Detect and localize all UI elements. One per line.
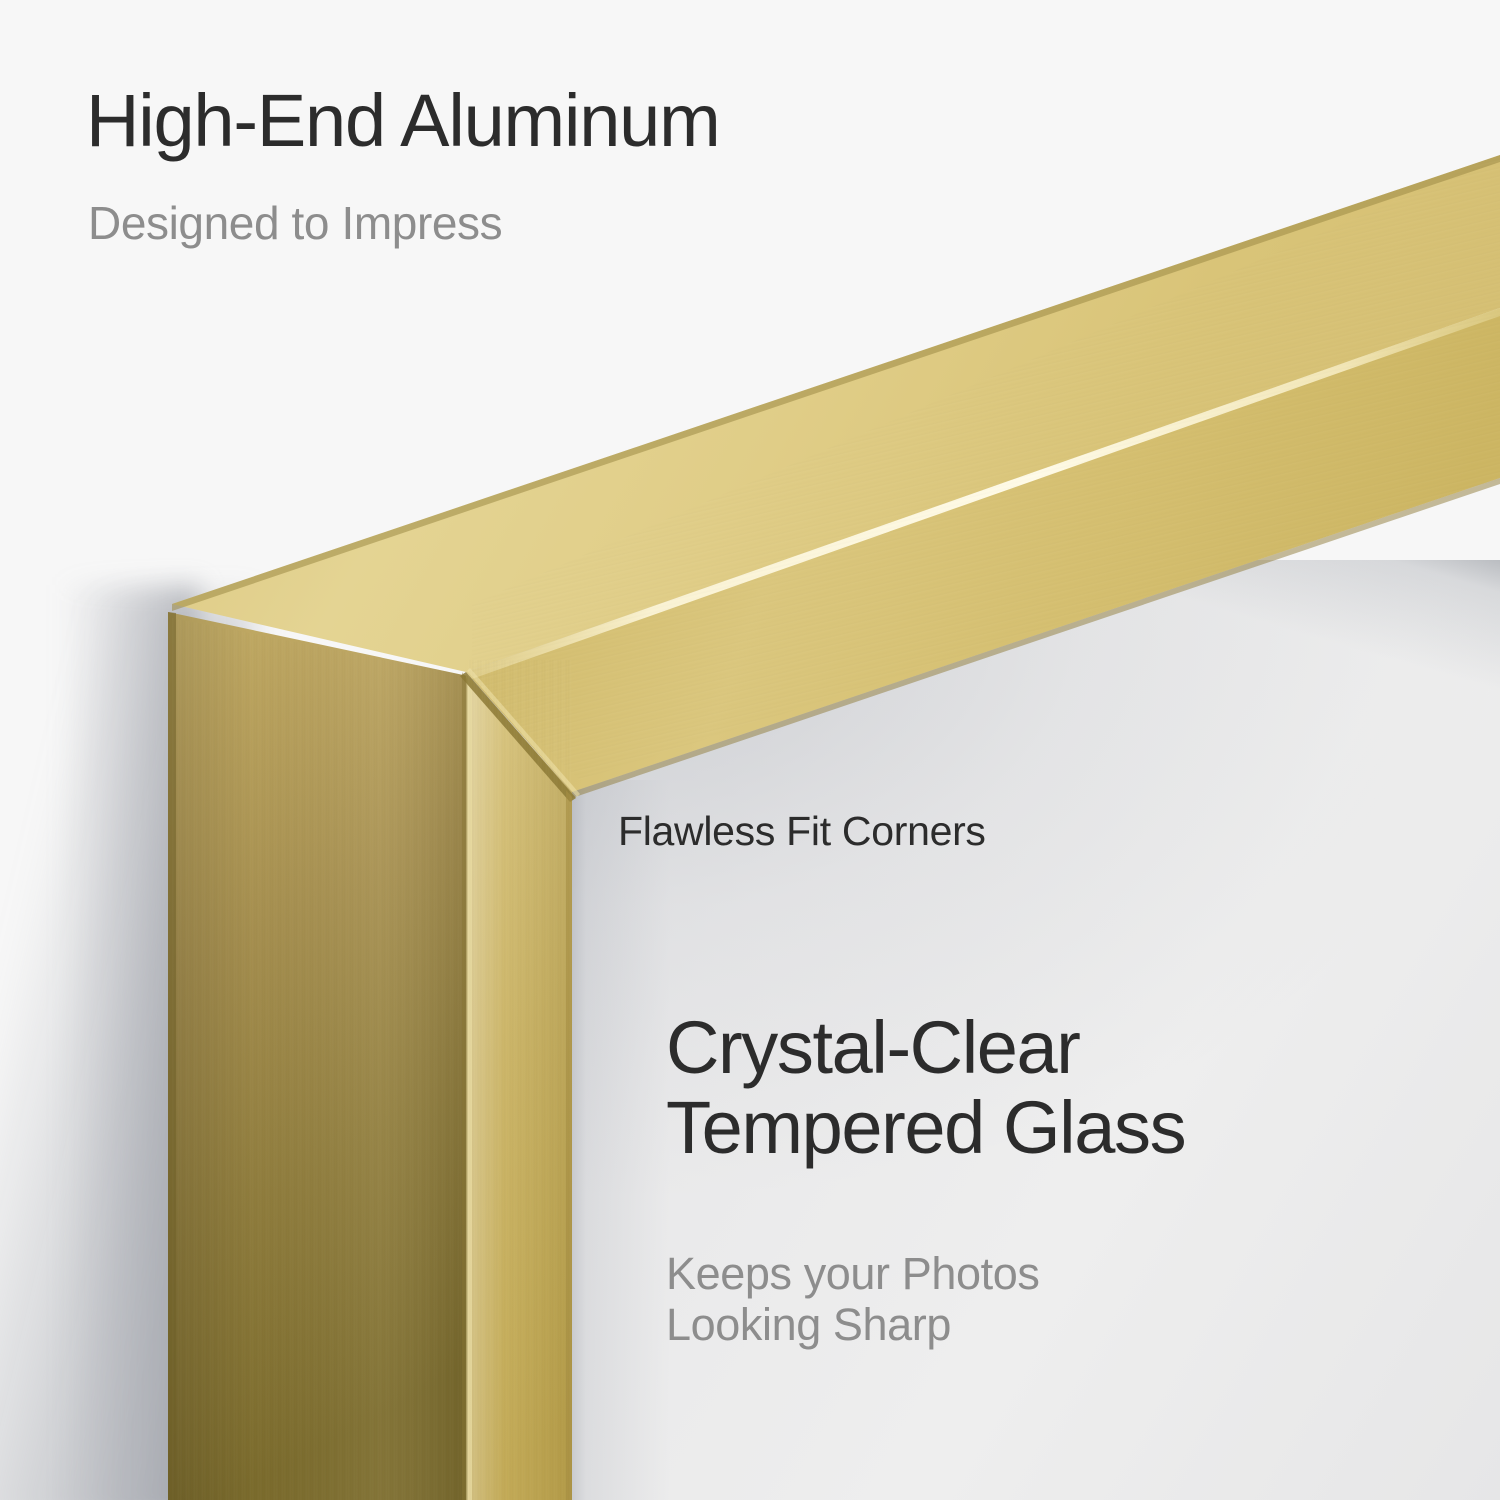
brushed-grain-stile-outer: [172, 604, 468, 1500]
product-hero-image: High-End Aluminum Designed to Impress Fl…: [0, 0, 1500, 1500]
glass-feature-subtitle: Keeps your Photos Looking Sharp: [666, 1248, 1039, 1351]
frame-left-stile-face: [168, 612, 468, 1500]
glass-feature-title: Crystal-Clear Tempered Glass: [666, 1008, 1185, 1168]
frame-stile-crease-shadow: [462, 672, 467, 1500]
frame-left-stile-shading: [168, 612, 468, 1500]
frame-stile-outer-edge: [168, 612, 176, 1500]
page-subtitle: Designed to Impress: [88, 196, 502, 250]
frame-wall-shadow: [0, 600, 250, 1500]
frame-wall-shadow-contact: [60, 585, 200, 1500]
corner-feature-label: Flawless Fit Corners: [618, 808, 986, 855]
page-title: High-End Aluminum: [86, 78, 720, 163]
